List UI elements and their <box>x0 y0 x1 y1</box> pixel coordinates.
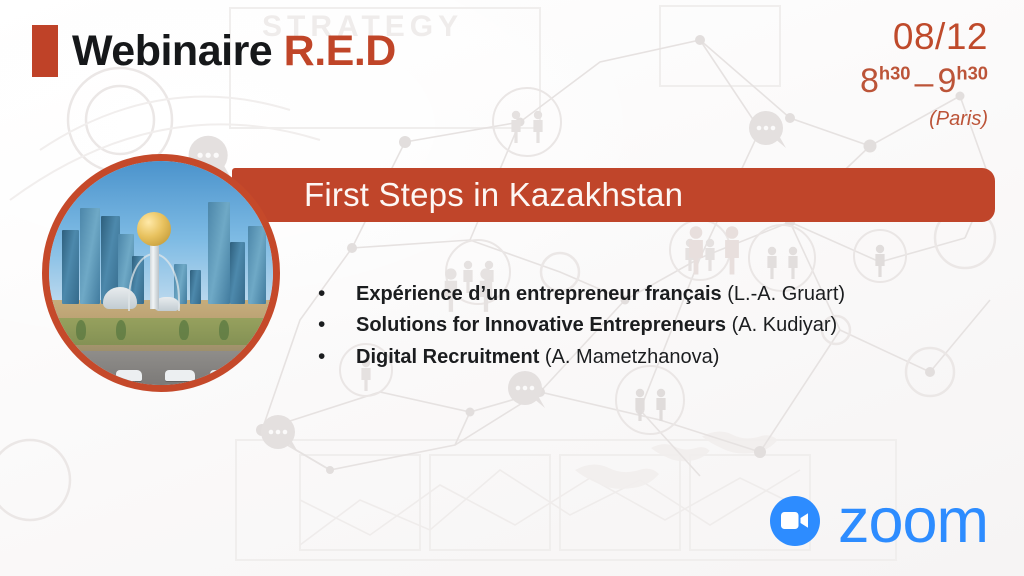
list-item: Solutions for Innovative Entrepreneurs (… <box>318 313 958 337</box>
start-hour: 8 <box>860 62 879 100</box>
topic-title: Digital Recruitment <box>356 346 539 368</box>
photo-tree <box>76 320 86 340</box>
bullet-icon <box>318 283 356 304</box>
zoom-logo: zoom <box>770 496 988 546</box>
list-item-text: Expérience d’un entrepreneur français (L… <box>356 282 845 306</box>
photo-road <box>49 351 273 385</box>
title-accent-bar <box>32 25 58 77</box>
video-camera-glyph <box>781 512 809 529</box>
photo-building <box>230 242 245 304</box>
photo-building <box>62 230 79 304</box>
title-text: Webinaire R.E.D <box>72 30 396 73</box>
timezone-city: (Paris) <box>860 109 988 129</box>
list-item: Digital Recruitment (A. Mametzhanova) <box>318 345 958 369</box>
bullet-icon <box>318 346 356 367</box>
list-item-text: Solutions for Innovative Entrepreneurs (… <box>356 313 837 337</box>
photo-building <box>208 202 230 304</box>
time-range-dash: – <box>911 66 938 100</box>
photo-building <box>190 270 201 304</box>
list-item: Expérience d’un entrepreneur français (L… <box>318 282 958 306</box>
photo-building <box>80 208 100 304</box>
video-camera-icon <box>770 496 820 546</box>
list-item-text: Digital Recruitment (A. Mametzhanova) <box>356 345 719 369</box>
topic-title: Solutions for Innovative Entrepreneurs <box>356 314 726 336</box>
session-title-text: First Steps in Kazakhstan <box>232 176 683 214</box>
topic-title: Expérience d’un entrepreneur français <box>356 283 722 305</box>
photo-tower-shaft <box>150 235 159 309</box>
photo-car <box>165 370 195 381</box>
photo-inner <box>49 161 273 385</box>
photo-building <box>248 226 266 304</box>
start-minutes: h30 <box>879 63 911 84</box>
title-main-text: Webinaire <box>72 27 284 75</box>
photo-tree <box>179 320 189 340</box>
title-accent-text: R.E.D <box>284 27 396 75</box>
date-time-block: 08/12 8h30–9h30 (Paris) <box>860 18 988 129</box>
astana-skyline-photo <box>42 154 280 392</box>
photo-car <box>116 370 142 381</box>
photo-tree <box>219 320 229 340</box>
topic-speaker: (L.-A. Gruart) <box>722 283 845 305</box>
zoom-wordmark: zoom <box>838 496 988 546</box>
bullet-icon <box>318 314 356 335</box>
topic-speaker: (A. Mametzhanova) <box>539 346 719 368</box>
event-date: 08/12 <box>860 18 988 55</box>
session-title-banner: First Steps in Kazakhstan <box>232 168 995 222</box>
session-topics-list: Expérience d’un entrepreneur français (L… <box>318 282 958 376</box>
page-title: Webinaire R.E.D <box>32 22 396 80</box>
end-minutes: h30 <box>956 63 988 84</box>
photo-car <box>210 370 234 381</box>
end-hour: 9 <box>937 62 956 100</box>
topic-speaker: (A. Kudiyar) <box>726 314 837 336</box>
event-time: 8h30–9h30 <box>860 64 988 98</box>
photo-tree <box>116 320 126 340</box>
webinar-slide: STRATEGY <box>0 0 1024 576</box>
